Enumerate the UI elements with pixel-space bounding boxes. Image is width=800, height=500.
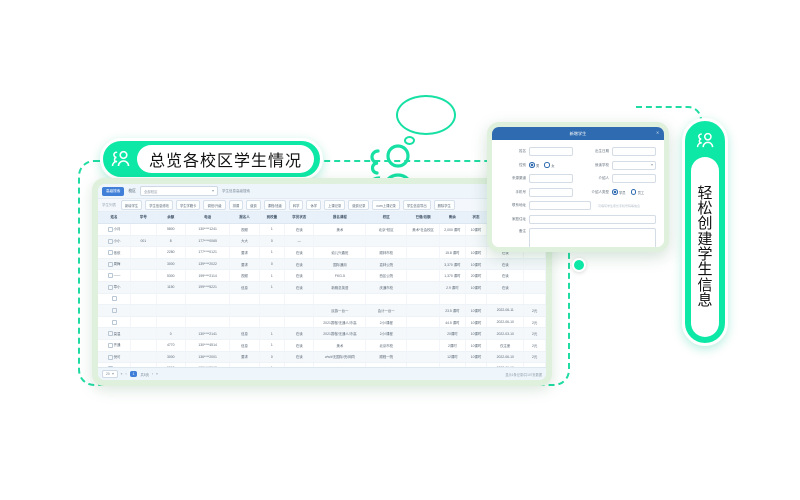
remark-label: 备注 — [500, 229, 526, 234]
toolbar-button[interactable]: 学生信息修改 — [145, 200, 173, 210]
table-row[interactable]: 依依2280177****0121要求1在读幼儿兴趣班顺林市校15.8 课时10… — [98, 247, 546, 259]
create-student-dialog: 新增学生 × 姓名 出生日期 性别 — [492, 127, 664, 247]
cell-state — [465, 235, 487, 247]
cell-course: 美术 — [314, 339, 366, 351]
field-birthday: 出生日期 — [583, 147, 656, 156]
cell-name — [98, 293, 131, 305]
intro-student-label: 学员 — [619, 190, 626, 195]
gender-male-label: 男 — [536, 163, 539, 168]
cell-discount: 2元 — [524, 339, 546, 351]
cell-campus: 顺林市校 — [366, 247, 407, 259]
col-balance: 余额 — [156, 212, 185, 224]
cell-referrer — [230, 293, 259, 305]
cell-visits: 1 — [259, 247, 284, 259]
callout-char: 轻 — [697, 186, 712, 201]
people-icon — [692, 127, 718, 153]
cell-discount — [524, 258, 546, 270]
field-source: 来源渠道 — [500, 174, 573, 183]
cell-campus: 2小/课程 — [366, 328, 407, 340]
cell-name: 小月 — [98, 224, 131, 236]
dialog-form: 姓名 出生日期 性别 男 — [492, 140, 664, 247]
cell-name: 倪可 — [98, 351, 131, 363]
cell-status: 在读 — [285, 224, 314, 236]
cell-balance: 8 — [156, 235, 185, 247]
cell-visits: 0 — [259, 351, 284, 363]
cell-course: FKG-5 — [314, 270, 366, 282]
cell-campus: 会计一台一 — [366, 305, 407, 317]
cell-date: 2022-06-10 — [487, 351, 524, 363]
cell-discount: 2元 — [524, 351, 546, 363]
cell-discount: 2元 — [524, 316, 546, 328]
dialog-title-bar: 新增学生 × — [492, 127, 664, 140]
col-visits: 到校量 — [259, 212, 284, 224]
cell-name: —— — [98, 270, 131, 282]
cell-campus: 嘉林公院 — [366, 258, 407, 270]
page-size-select[interactable]: 20 — [102, 370, 118, 378]
phone-label: 手机号 — [500, 190, 526, 195]
cell-campus: 北京市校 — [366, 339, 407, 351]
cell-balance — [156, 293, 185, 305]
cell-balance: 1150 — [156, 281, 185, 293]
cell-referrer: 大大 — [230, 235, 259, 247]
table-header-row: 姓名 学号 余额 电话 报名人 到校量 学员状态 报名课程 校区 已缴/总额 剩… — [98, 212, 546, 224]
cell-phone: 136****2001 — [185, 351, 229, 363]
app-window: 高级搜索 校区 全部校区 学生信息高级搜索 学生列表 新增学生 学生信息修改 学… — [98, 184, 546, 380]
advanced-search-link[interactable]: 学生信息高级搜索 — [222, 189, 250, 194]
table-body: 小月5800130****1241视频1在读美术北京*校区美术*社会校区2,00… — [98, 224, 546, 381]
callout-char: 松 — [697, 201, 712, 216]
form-row: 备注 — [500, 228, 656, 247]
row-checkbox[interactable] — [108, 355, 113, 360]
cell-paid — [407, 235, 440, 247]
cell-state: 10课时 — [465, 281, 487, 293]
row-checkbox[interactable] — [108, 343, 113, 348]
field-address: 家庭住址 — [500, 215, 656, 224]
cell-remain: 15.8 课时 — [440, 247, 465, 259]
field-referrer: 介绍人 — [583, 174, 656, 183]
cell-phone: 130****4514 — [185, 339, 229, 351]
cell-phone — [185, 305, 229, 317]
next-page-button[interactable]: › — [152, 372, 153, 376]
name-label: 姓名 — [500, 149, 526, 154]
cell-sid — [131, 270, 156, 282]
cell-referrer: 要求 — [230, 351, 259, 363]
campus-select-value: 全部校区 — [144, 189, 158, 194]
cell-paid — [407, 247, 440, 259]
cell-remain: 3,370 课时 — [440, 258, 465, 270]
callout-char: 息 — [697, 293, 712, 308]
cell-name — [98, 316, 131, 328]
cell-status: 在读 — [285, 270, 314, 282]
cell-course — [314, 235, 366, 247]
toolbar-button[interactable]: 转学 — [289, 200, 304, 210]
cell-balance: 3000 — [156, 258, 185, 270]
chevron-down-icon — [112, 373, 114, 375]
form-row: 来源渠道 介绍人 — [500, 174, 656, 183]
table-row[interactable] — [98, 293, 546, 305]
col-course: 报名课程 — [314, 212, 366, 224]
col-campus: 校区 — [366, 212, 407, 224]
cell-visits: 1 — [259, 281, 284, 293]
cell-visits: 1 — [259, 224, 284, 236]
cell-phone: 177****0065 — [185, 235, 229, 247]
cell-visits — [259, 316, 284, 328]
callout-create: 轻 松 创 建 学 生 信 息 — [682, 118, 728, 346]
callout-char: 信 — [697, 278, 712, 293]
field-name: 姓名 — [500, 147, 573, 156]
callout-char: 建 — [697, 232, 712, 247]
cell-state: 10课时 — [465, 305, 487, 317]
list-title: 学生列表 — [102, 203, 116, 208]
intro-radio-staff[interactable]: 员工 — [631, 189, 645, 195]
birthday-label: 出生日期 — [583, 149, 609, 154]
cell-name: 周梅 — [98, 258, 131, 270]
cell-campus — [366, 235, 407, 247]
cell-referrer: 要求 — [230, 258, 259, 270]
cell-date: 在读 — [487, 258, 524, 270]
cell-state: 10课时 — [465, 247, 487, 259]
gender-radio-male[interactable]: 男 — [529, 162, 539, 168]
cell-remain: 20课时 — [440, 328, 465, 340]
cell-remain: 23.5 课时 — [440, 305, 465, 317]
cell-sid — [131, 328, 156, 340]
intro-label: 介绍人类型 — [583, 190, 609, 195]
cell-name: 齐通 — [98, 339, 131, 351]
cell-course: 新概念英语 — [314, 281, 366, 293]
cell-referrer: 信息 — [230, 328, 259, 340]
cell-paid — [407, 339, 440, 351]
col-referrer: 报名人 — [230, 212, 259, 224]
cell-referrer: 信息 — [230, 339, 259, 351]
cell-state — [465, 293, 487, 305]
cell-state: 10课时 — [465, 258, 487, 270]
col-phone: 电话 — [185, 212, 229, 224]
cell-remain: 44.5 课时 — [440, 316, 465, 328]
cell-referrer: 视频 — [230, 270, 259, 282]
cell-referrer — [230, 316, 259, 328]
cell-phone: 139****2022 — [185, 258, 229, 270]
school-label: 就读学校 — [583, 163, 609, 168]
row-checkbox[interactable] — [108, 250, 113, 255]
cell-paid — [407, 293, 440, 305]
gender-female-label: 女 — [551, 163, 554, 168]
cell-paid — [407, 351, 440, 363]
contact-label: 联系地址 — [500, 203, 526, 208]
cell-state: 10课时 — [465, 224, 487, 236]
cell-status: 在读 — [285, 328, 314, 340]
cell-state: 20课时 — [465, 270, 487, 282]
cell-sid — [131, 305, 156, 317]
cell-status: — — [285, 235, 314, 247]
table-head: 姓名 学号 余额 电话 报名人 到校量 学员状态 报名课程 校区 已缴/总额 剩… — [98, 212, 546, 224]
promo-stage: 总览各校区学生情况 轻 松 创 建 学 生 信 息 高级搜索 校区 — [0, 0, 800, 500]
close-icon[interactable]: × — [656, 131, 659, 136]
row-checkbox[interactable] — [108, 273, 113, 278]
gender-radio-group: 男 女 — [529, 162, 573, 168]
cell-paid — [407, 305, 440, 317]
cell-balance — [156, 305, 185, 317]
cell-phone — [185, 293, 229, 305]
row-checkbox[interactable] — [108, 331, 113, 336]
cell-sid — [131, 224, 156, 236]
col-name: 姓名 — [98, 212, 131, 224]
callout-overview: 总览各校区学生情况 — [100, 138, 323, 180]
referrer-input[interactable] — [612, 174, 656, 183]
page-size-value: 20 — [106, 372, 110, 376]
cell-sid — [131, 258, 156, 270]
cell-date: 2022-06-11 — [487, 305, 524, 317]
cell-course: 2021赛程/无通人/冷高 — [314, 316, 366, 328]
connector-dot — [572, 258, 586, 272]
cell-discount: 2元 — [524, 305, 546, 317]
cell-visits: 0 — [259, 258, 284, 270]
field-gender: 性别 男 女 — [500, 161, 573, 170]
cell-state: 10课时 — [465, 328, 487, 340]
toolbar-button[interactable]: com上课记录 — [372, 200, 399, 210]
cell-name: 小小 — [98, 235, 131, 247]
toolbar-button[interactable]: 学生学籍卡 — [176, 200, 200, 210]
cell-status: 在读 — [285, 339, 314, 351]
address-input[interactable] — [529, 215, 656, 224]
cell-course: 幼儿兴趣班 — [314, 247, 366, 259]
table-row[interactable]: 倪可3000136****2001要求0在读v/w/t/无国际/完/网同顺程一院… — [98, 351, 546, 363]
callout-char: 学 — [697, 247, 712, 262]
cell-paid — [407, 270, 440, 282]
intro-radio-group: 学员 员工 — [612, 189, 656, 195]
table-row[interactable]: 周梅3000139****2022要求0在读国际通用嘉林公院3,370 课时10… — [98, 258, 546, 270]
toolbar-button[interactable]: 缴费记录 — [348, 200, 369, 210]
cell-referrer — [230, 305, 259, 317]
referrer-label: 介绍人 — [583, 176, 609, 181]
radio-dot-icon — [544, 162, 550, 168]
campus-select[interactable]: 全部校区 — [140, 186, 218, 196]
cell-state: 10课时 — [465, 351, 487, 363]
address-label: 家庭住址 — [500, 217, 526, 222]
cell-remain — [440, 293, 465, 305]
page-total: 共5页 — [140, 372, 148, 377]
student-list-screenshot: 高级搜索 校区 全部校区 学生信息高级搜索 学生列表 新增学生 学生信息修改 学… — [92, 178, 552, 386]
cell-balance — [156, 316, 185, 328]
name-input[interactable] — [529, 147, 573, 156]
table-row[interactable]: 小小0018177****0065大大0— — [98, 235, 546, 247]
cell-sid — [131, 316, 156, 328]
chevron-down-icon — [212, 190, 214, 192]
cell-campus: 西区公院 — [366, 270, 407, 282]
cell-sid: 001 — [131, 235, 156, 247]
cell-visits: 1 — [259, 270, 284, 282]
cell-campus: 顺程一院 — [366, 351, 407, 363]
school-select[interactable] — [612, 161, 656, 170]
cell-balance: 5800 — [156, 224, 185, 236]
table-row[interactable]: 章小1150199****5221信息1在读新概念英语庆通市校2.9 课时10课… — [98, 281, 546, 293]
table-row[interactable]: 小月5800130****1241视频1在读美术北京*校区美术*社会校区2,00… — [98, 224, 546, 236]
row-checkbox[interactable] — [112, 296, 117, 301]
cell-phone: 130****2141 — [185, 328, 229, 340]
table-row[interactable]: 民族一台一会计一台一23.5 课时10课时2022-06-112元 — [98, 305, 546, 317]
phone-input[interactable] — [529, 188, 573, 197]
row-checkbox[interactable] — [108, 227, 113, 232]
form-row: 联系地址 可填写学生家长手机号码等信息 — [500, 201, 656, 210]
field-phone: 手机号 — [500, 188, 573, 197]
advanced-search-button[interactable]: 高级搜索 — [102, 187, 124, 196]
cell-visits — [259, 293, 284, 305]
radio-dot-icon — [631, 189, 637, 195]
last-page-button[interactable]: » — [156, 372, 158, 376]
form-row: 姓名 出生日期 — [500, 147, 656, 156]
cell-remain: 12课时 — [440, 351, 465, 363]
cell-course: 美术 — [314, 224, 366, 236]
remark-textarea[interactable] — [529, 228, 656, 247]
table-row[interactable]: 齐通4770130****4514信息1在读美术北京市校2课时10课时仅注册2元 — [98, 339, 546, 351]
table-row[interactable]: 2021赛程/无通人/冷高2小/课程44.5 课时10课时2022-06-102… — [98, 316, 546, 328]
prev-page-button[interactable]: ‹ — [126, 372, 127, 376]
cell-remain: 1,370 课时 — [440, 270, 465, 282]
callout-overview-label: 总览各校区学生情况 — [137, 145, 314, 173]
cell-sid — [131, 281, 156, 293]
field-contact: 联系地址 可填写学生家长手机号码等信息 — [500, 201, 656, 210]
cell-date: 仅注册 — [487, 339, 524, 351]
chevron-down-icon — [651, 164, 653, 166]
cell-visits: 0 — [259, 235, 284, 247]
cell-sid — [131, 351, 156, 363]
table-row[interactable]: 莫温0130****2141信息1在读2021赛程/无通人/冷高2小/课程20课… — [98, 328, 546, 340]
cell-state: 10课时 — [465, 339, 487, 351]
row-checkbox[interactable] — [108, 285, 113, 290]
cell-name: 依依 — [98, 247, 131, 259]
gender-radio-female[interactable]: 女 — [544, 162, 554, 168]
cell-paid — [407, 328, 440, 340]
cell-referrer: 视频 — [230, 224, 259, 236]
row-checkbox[interactable] — [112, 320, 117, 325]
cell-remain — [440, 235, 465, 247]
cell-visits: 1 — [259, 339, 284, 351]
form-row: 手机号 介绍人类型 学员 员工 — [500, 188, 656, 197]
cell-status — [285, 293, 314, 305]
cell-date: 在读 — [487, 281, 524, 293]
cell-course — [314, 293, 366, 305]
intro-radio-student[interactable]: 学员 — [612, 189, 626, 195]
cell-date — [487, 293, 524, 305]
toolbar-button[interactable]: 排课 — [229, 200, 244, 210]
cell-course: 民族一台一 — [314, 305, 366, 317]
table-row[interactable]: ——5300199****2114视频1在读FKG-5西区公院1,370 课时2… — [98, 270, 546, 282]
row-checkbox[interactable] — [108, 239, 113, 244]
cell-sid — [131, 247, 156, 259]
field-remark: 备注 — [500, 228, 656, 247]
cell-name: 莫温 — [98, 328, 131, 340]
cell-balance: 4770 — [156, 339, 185, 351]
birthday-input[interactable] — [612, 147, 656, 156]
current-page[interactable]: 1 — [130, 371, 138, 377]
cell-visits: 1 — [259, 328, 284, 340]
cell-campus — [366, 293, 407, 305]
toolbar-button[interactable]: 删除学生 — [434, 200, 455, 210]
contact-hint: 可填写学生家长手机号码等信息 — [598, 204, 640, 208]
toolbar-button[interactable]: 上课记录 — [324, 200, 345, 210]
cell-status: 在读 — [285, 281, 314, 293]
cell-course: 国际通用 — [314, 258, 366, 270]
cell-sid — [131, 293, 156, 305]
col-remain: 剩余 — [440, 212, 465, 224]
action-toolbar: 学生列表 新增学生 学生信息修改 学生学籍卡 调班/升级 排课 缴费 课程/班级… — [98, 199, 546, 212]
toolbar-button[interactable]: 课程/班级 — [264, 200, 286, 210]
cell-phone: 130****1241 — [185, 224, 229, 236]
cell-date: 2022-03-10 — [487, 328, 524, 340]
cell-date: 在读 — [487, 270, 524, 282]
cell-campus: 北京*校区 — [366, 224, 407, 236]
toolbar-button[interactable]: 新增学生 — [121, 200, 142, 210]
cell-paid — [407, 316, 440, 328]
gender-label: 性别 — [500, 163, 526, 168]
first-page-button[interactable]: « — [121, 372, 123, 376]
cell-campus: 2小/课程 — [366, 316, 407, 328]
dialog-title: 新增学生 — [570, 131, 587, 137]
source-input[interactable] — [529, 174, 573, 183]
pagination-bar: 20 « ‹ 1 共5页 › » 显示1条记录/共107页数据 — [98, 367, 546, 380]
cell-campus: 庆通市校 — [366, 281, 407, 293]
row-checkbox[interactable] — [112, 308, 117, 313]
campus-label: 校区 — [128, 189, 136, 194]
cell-state: 10课时 — [465, 316, 487, 328]
cell-phone: 177****0121 — [185, 247, 229, 259]
cell-paid — [407, 281, 440, 293]
toolbar-button[interactable]: 缴费 — [246, 200, 261, 210]
cell-date: 2022-06-10 — [487, 316, 524, 328]
cell-balance: 5300 — [156, 270, 185, 282]
cell-status: 在读 — [285, 258, 314, 270]
cell-name: 章小 — [98, 281, 131, 293]
col-sid: 学号 — [131, 212, 156, 224]
filter-bar: 高级搜索 校区 全部校区 学生信息高级搜索 — [98, 184, 546, 199]
callout-char: 生 — [697, 262, 712, 277]
cell-discount: 2元 — [524, 328, 546, 340]
contact-input[interactable] — [529, 201, 591, 210]
student-table: 姓名 学号 余额 电话 报名人 到校量 学员状态 报名课程 校区 已缴/总额 剩… — [98, 212, 546, 380]
record-info: 显示1条记录/共107页数据 — [505, 372, 542, 377]
toolbar-button[interactable]: 学生信息导出 — [403, 200, 431, 210]
form-row: 家庭住址 — [500, 215, 656, 224]
cell-status: 在读 — [285, 351, 314, 363]
cell-status: 在读 — [285, 247, 314, 259]
cell-referrer: 要求 — [230, 247, 259, 259]
cell-sid — [131, 339, 156, 351]
col-status: 学员状态 — [285, 212, 314, 224]
people-icon — [107, 145, 135, 173]
field-intro-type: 介绍人类型 学员 员工 — [583, 188, 656, 197]
cell-discount — [524, 270, 546, 282]
cell-paid — [407, 258, 440, 270]
cell-course: 2021赛程/无通人/冷高 — [314, 328, 366, 340]
cell-course: v/w/t/无国际/完/网同 — [314, 351, 366, 363]
radio-dot-icon — [612, 189, 618, 195]
cell-referrer: 信息 — [230, 281, 259, 293]
callout-char: 创 — [697, 216, 712, 231]
cell-status — [285, 316, 314, 328]
cell-remain: 2课时 — [440, 339, 465, 351]
cell-phone — [185, 316, 229, 328]
cell-discount — [524, 281, 546, 293]
intro-staff-label: 员工 — [638, 190, 645, 195]
col-state: 状态 — [465, 212, 487, 224]
toolbar-button[interactable]: 调班/升级 — [203, 200, 225, 210]
source-label: 来源渠道 — [500, 176, 526, 181]
cell-balance: 3000 — [156, 351, 185, 363]
row-checkbox[interactable] — [108, 262, 113, 267]
cell-name — [98, 305, 131, 317]
callout-create-label: 轻 松 创 建 学 生 信 息 — [691, 157, 719, 337]
cell-visits — [259, 305, 284, 317]
toolbar-button[interactable]: 休学 — [306, 200, 321, 210]
